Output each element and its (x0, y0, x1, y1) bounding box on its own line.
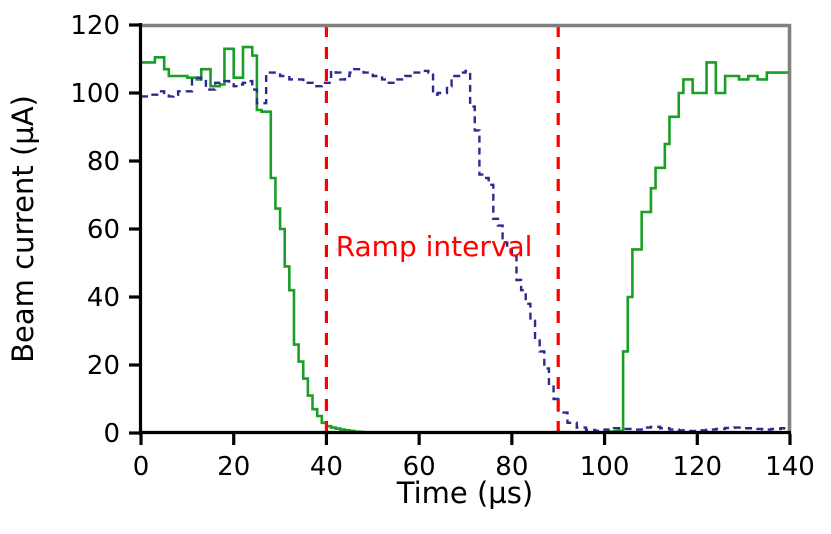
y-axis-title: Beam current (µA) (6, 95, 40, 363)
y-tick-label-60: 60 (87, 215, 120, 245)
y-axis-ticks: 020406080100120 (70, 11, 140, 449)
x-tick-label-40: 40 (310, 452, 343, 482)
x-axis-title: Time (µs) (396, 476, 533, 510)
beam-current-chart: 020406080100120140 020406080100120 Ramp … (0, 0, 831, 534)
y-tick-label-120: 120 (70, 11, 120, 41)
y-tick-label-80: 80 (87, 147, 120, 177)
x-tick-label-0: 0 (133, 452, 150, 482)
y-tick-label-100: 100 (70, 79, 120, 109)
chart-annotations: Ramp interval (336, 230, 533, 263)
x-tick-label-140: 140 (765, 452, 815, 482)
x-axis-ticks: 020406080100120140 (133, 434, 815, 482)
x-tick-label-20: 20 (217, 452, 250, 482)
x-tick-label-120: 120 (672, 452, 722, 482)
ramp-interval-label: Ramp interval (336, 230, 533, 263)
y-tick-label-20: 20 (87, 351, 120, 381)
y-tick-label-40: 40 (87, 283, 120, 313)
y-tick-label-0: 0 (103, 419, 120, 449)
x-tick-label-100: 100 (580, 452, 630, 482)
figure-canvas: 020406080100120140 020406080100120 Ramp … (0, 0, 831, 534)
